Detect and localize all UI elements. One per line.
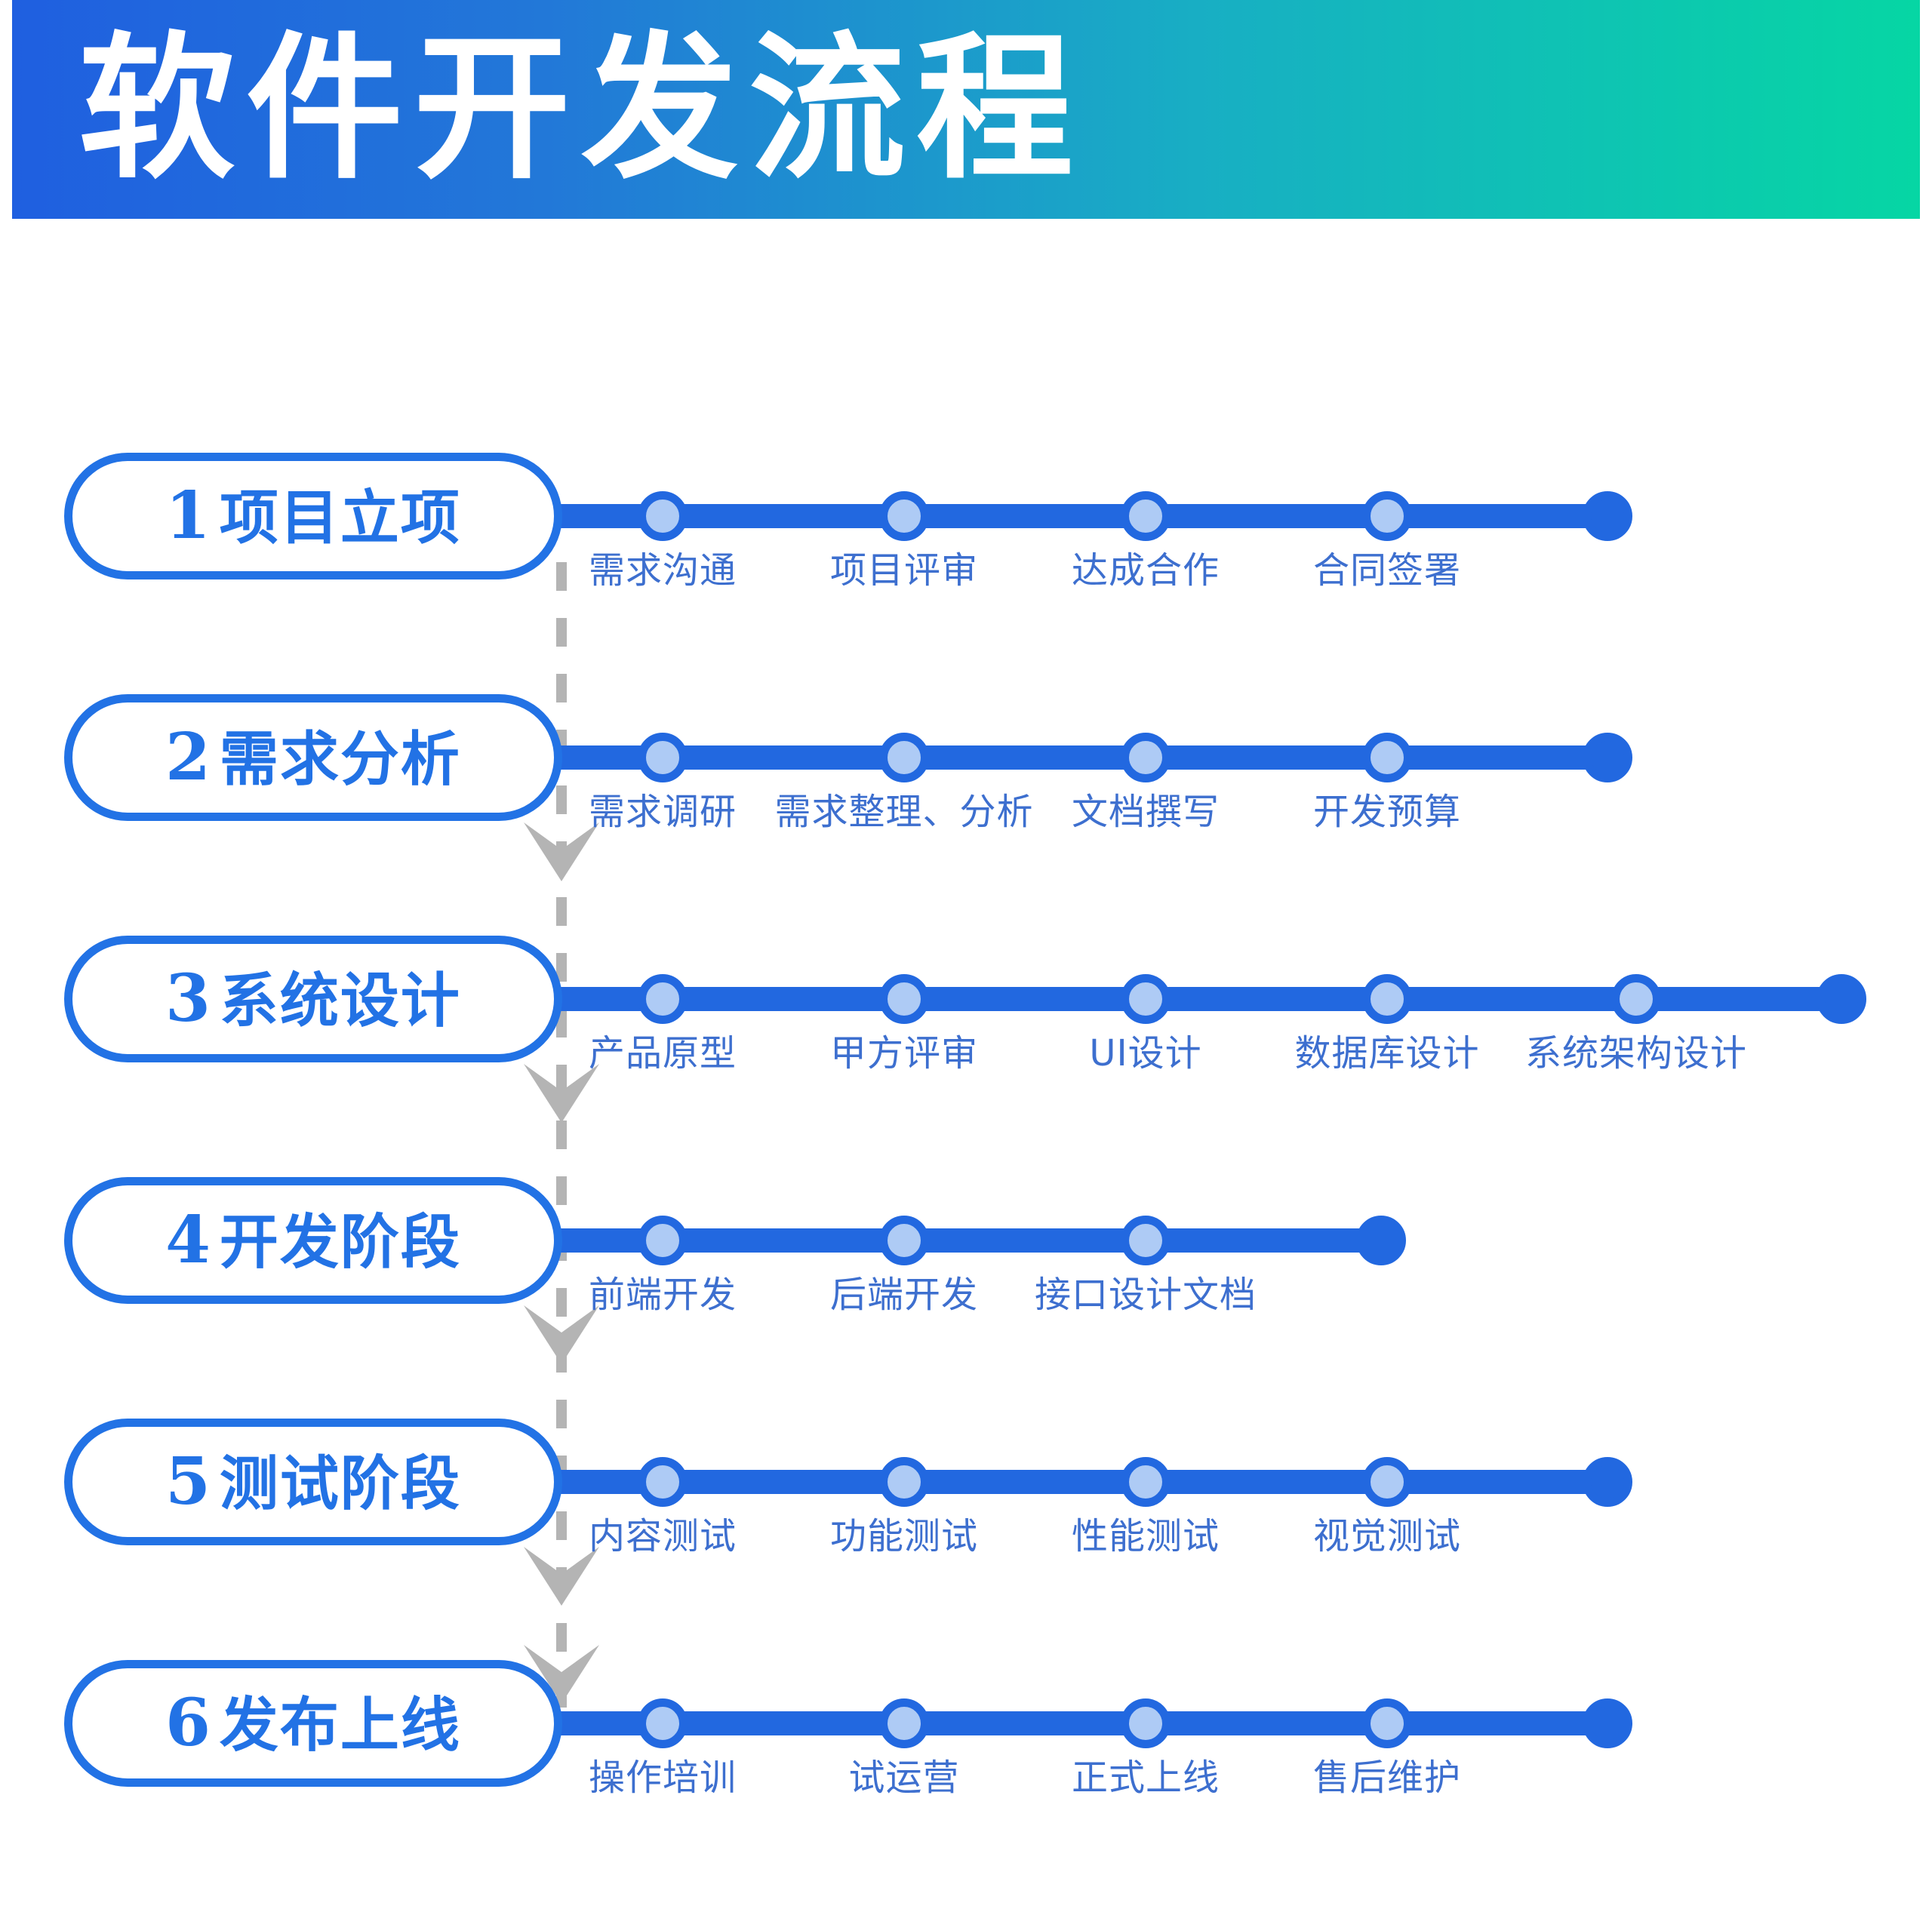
timeline-node-icon[interactable] bbox=[1121, 974, 1171, 1024]
stage-number-3: 3 bbox=[165, 961, 212, 1037]
timeline-node-icon[interactable] bbox=[638, 974, 688, 1024]
stage-number-6: 6 bbox=[165, 1685, 212, 1761]
stage-timeline-4: 前端开发 后端开发 接口设计文档 bbox=[560, 1228, 1405, 1253]
timeline-end-node-icon bbox=[1356, 1216, 1406, 1265]
stage-row-2: 2需求分析 需求调研 需求整理、分析 文档撰写 开发预算 bbox=[0, 670, 1932, 911]
stage-name-3: 系统设计 bbox=[220, 967, 461, 1035]
page-title: 软件开发流程 bbox=[78, 31, 1084, 188]
timeline-node-icon[interactable] bbox=[1121, 733, 1171, 782]
stage-number-5: 5 bbox=[165, 1443, 212, 1520]
stage-number-4: 4 bbox=[165, 1202, 212, 1278]
timeline-node-icon[interactable] bbox=[638, 733, 688, 782]
timeline-step-label: 系统架构设计 bbox=[1478, 1034, 1795, 1074]
timeline-node-icon[interactable] bbox=[879, 1457, 929, 1507]
stage-timeline-1: 需求沟通 项目评审 达成合作 合同签署 bbox=[560, 504, 1632, 528]
stage-name-2: 需求分析 bbox=[220, 726, 461, 794]
timeline-node-icon[interactable] bbox=[1611, 974, 1661, 1024]
timeline-node-icon[interactable] bbox=[1362, 1457, 1412, 1507]
stage-pill-5[interactable]: 5测试阶段 bbox=[64, 1419, 562, 1545]
stage-timeline-6: 操作培训 试运营 正式上线 售后维护 bbox=[560, 1711, 1632, 1735]
stage-pill-6[interactable]: 6发布上线 bbox=[64, 1660, 562, 1787]
stage-name-6: 发布上线 bbox=[220, 1692, 461, 1760]
infographic-canvas: 软件开发流程 1项目立项 bbox=[0, 0, 1932, 1909]
timeline-end-node-icon bbox=[1817, 974, 1866, 1024]
stage-pill-1-text: 1项目立项 bbox=[165, 484, 461, 549]
stage-number-1: 1 bbox=[165, 478, 212, 554]
timeline-step-label: 合同签署 bbox=[1229, 551, 1546, 591]
timeline-node-icon[interactable] bbox=[638, 1216, 688, 1265]
timeline-node-icon[interactable] bbox=[1362, 733, 1412, 782]
stage-pill-2-text: 2需求分析 bbox=[165, 725, 461, 790]
timeline-end-node-icon bbox=[1583, 491, 1632, 541]
stage-row-1: 1项目立项 需求沟通 项目评审 达成合作 合同签署 bbox=[0, 429, 1932, 670]
stage-pill-3[interactable]: 3系统设计 bbox=[64, 936, 562, 1062]
timeline-node-icon[interactable] bbox=[1121, 1216, 1171, 1265]
timeline-step-label: 接口设计文档 bbox=[987, 1275, 1304, 1315]
stage-pill-2[interactable]: 2需求分析 bbox=[64, 694, 562, 821]
timeline-track-1 bbox=[560, 504, 1607, 528]
timeline-step-label: 售后维护 bbox=[1229, 1758, 1546, 1798]
stage-timeline-5: 内容测试 功能测试 性能测试 视觉测试 bbox=[560, 1470, 1632, 1494]
timeline-step-label: 开发预算 bbox=[1229, 792, 1546, 832]
timeline-node-icon[interactable] bbox=[638, 491, 688, 541]
stage-number-2: 2 bbox=[165, 719, 212, 795]
stage-timeline-3: 产品原型 甲方评审 UI设计 数据库设计 系统架构设计 bbox=[560, 987, 1866, 1011]
timeline-track-5 bbox=[560, 1470, 1607, 1494]
timeline-node-icon[interactable] bbox=[1362, 491, 1412, 541]
stage-pill-6-text: 6发布上线 bbox=[165, 1691, 461, 1756]
timeline-node-icon[interactable] bbox=[638, 1457, 688, 1507]
stage-timeline-2: 需求调研 需求整理、分析 文档撰写 开发预算 bbox=[560, 745, 1632, 770]
stage-row-3: 3系统设计 产品原型 甲方评审 UI设计 数据库设计 系 bbox=[0, 911, 1932, 1153]
timeline-node-icon[interactable] bbox=[1121, 491, 1171, 541]
timeline-end-node-icon bbox=[1583, 1698, 1632, 1748]
stage-pill-4-text: 4开发阶段 bbox=[165, 1208, 461, 1273]
timeline-node-icon[interactable] bbox=[879, 491, 929, 541]
stage-name-5: 测试阶段 bbox=[220, 1450, 461, 1518]
timeline-track-6 bbox=[560, 1711, 1607, 1735]
timeline-step-label: 视觉测试 bbox=[1229, 1517, 1546, 1557]
timeline-node-icon[interactable] bbox=[1362, 1698, 1412, 1748]
timeline-node-icon[interactable] bbox=[1121, 1457, 1171, 1507]
stage-row-5: 5测试阶段 内容测试 功能测试 性能测试 视觉测试 bbox=[0, 1394, 1932, 1636]
stage-pill-3-text: 3系统设计 bbox=[165, 967, 461, 1031]
timeline-node-icon[interactable] bbox=[879, 974, 929, 1024]
stage-name-1: 项目立项 bbox=[220, 484, 461, 552]
stage-row-4: 4开发阶段 前端开发 后端开发 接口设计文档 bbox=[0, 1153, 1932, 1394]
header-banner: 软件开发流程 bbox=[12, 0, 1920, 219]
stage-pill-1[interactable]: 1项目立项 bbox=[64, 453, 562, 579]
timeline-node-icon[interactable] bbox=[879, 1216, 929, 1265]
stage-row-6: 6发布上线 操作培训 试运营 正式上线 售后维护 bbox=[0, 1636, 1932, 1877]
stage-pill-5-text: 5测试阶段 bbox=[165, 1449, 461, 1514]
stage-name-4: 开发阶段 bbox=[220, 1209, 461, 1277]
timeline-node-icon[interactable] bbox=[638, 1698, 688, 1748]
timeline-node-icon[interactable] bbox=[1362, 974, 1412, 1024]
timeline-end-node-icon bbox=[1583, 1457, 1632, 1507]
timeline-end-node-icon bbox=[1583, 733, 1632, 782]
stage-pill-4[interactable]: 4开发阶段 bbox=[64, 1177, 562, 1304]
timeline-node-icon[interactable] bbox=[879, 733, 929, 782]
timeline-node-icon[interactable] bbox=[1121, 1698, 1171, 1748]
timeline-track-2 bbox=[560, 745, 1607, 770]
timeline-node-icon[interactable] bbox=[879, 1698, 929, 1748]
